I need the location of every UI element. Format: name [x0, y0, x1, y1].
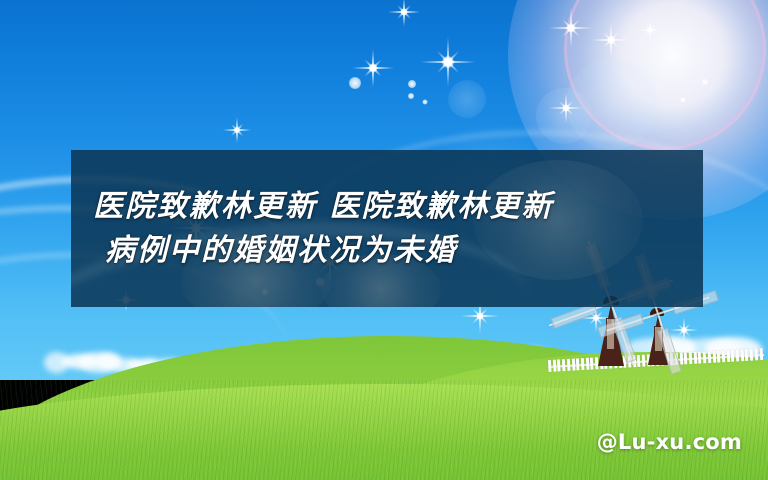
- site-watermark: @Lu-xu.com: [597, 430, 742, 454]
- fence-picket: [731, 350, 735, 362]
- fence-picket: [759, 348, 763, 360]
- dot-1: [349, 77, 361, 89]
- fence-picket: [726, 350, 730, 362]
- fence-picket: [571, 359, 575, 371]
- fence-picket: [642, 355, 646, 367]
- fence-picket: [585, 358, 589, 370]
- fence-picket: [693, 352, 697, 364]
- fence-picket: [745, 349, 749, 361]
- fence-picket: [703, 351, 707, 363]
- fence-picket: [576, 358, 580, 370]
- dot-6: [681, 98, 686, 103]
- fence-picket: [679, 353, 683, 365]
- fence-picket: [581, 358, 585, 370]
- fence-picket: [553, 360, 557, 372]
- fence-picket: [698, 351, 702, 363]
- fence-picket: [590, 358, 594, 370]
- fence-picket: [548, 360, 552, 372]
- fence-picket: [707, 351, 711, 363]
- fence-picket: [637, 355, 641, 367]
- fence-picket: [736, 349, 740, 361]
- fence-picket: [567, 359, 571, 371]
- headline-line-1: 医院致歉林更新 医院致歉林更新: [71, 185, 703, 229]
- dot-5: [702, 79, 708, 85]
- fence-picket: [754, 348, 758, 360]
- fence-picket: [750, 349, 754, 361]
- dot-3: [408, 93, 414, 99]
- fence-picket: [689, 352, 693, 364]
- fence-picket: [712, 351, 716, 363]
- headline-line-2: 病例中的婚姻状况为未婚: [71, 229, 703, 273]
- fence-picket: [717, 350, 721, 362]
- fence-picket: [740, 349, 744, 361]
- fence-picket: [562, 359, 566, 371]
- poster-canvas: 医院致歉林更新 医院致歉林更新 病例中的婚姻状况为未婚 @Lu-xu.com: [0, 0, 768, 480]
- fence-picket: [684, 352, 688, 364]
- lens-flare-4: [448, 80, 486, 118]
- fence-picket: [722, 350, 726, 362]
- dot-4: [423, 100, 428, 105]
- headline-panel: 医院致歉林更新 医院致歉林更新 病例中的婚姻状况为未婚: [71, 150, 703, 307]
- dot-2: [408, 80, 416, 88]
- fence-picket: [557, 359, 561, 371]
